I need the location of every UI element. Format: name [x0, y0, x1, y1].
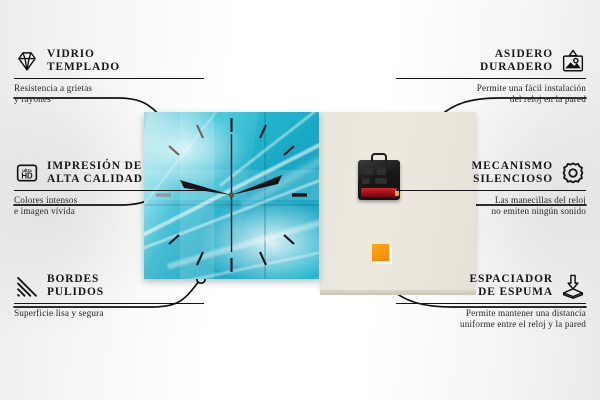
feature-title: MECANISMO SILENCIOSO	[471, 160, 553, 187]
feature-header: ESPACIADOR DE ESPUMA	[396, 273, 586, 300]
feature-title-line1: ASIDERO	[480, 48, 553, 61]
divider	[14, 190, 204, 192]
feature-subtitle-line2: y rayones	[14, 94, 204, 105]
feature-subtitle-line1: Las manecillas del reloj	[396, 195, 586, 206]
feature-title-line2: TEMPLADO	[47, 61, 120, 74]
feature-subtitle: Colores intensos e imagen vívida	[14, 195, 204, 218]
feature-subtitle-line2: e imagen vívida	[14, 206, 204, 217]
feature-title-line1: MECANISMO	[471, 160, 553, 173]
feature-subtitle: Superficie lisa y segura	[14, 308, 204, 319]
feature-title-line2: DE ESPUMA	[470, 286, 553, 299]
feature-title: ESPACIADOR DE ESPUMA	[470, 273, 553, 300]
movement-detail	[362, 167, 373, 175]
feature-title-line2: PULIDOS	[47, 286, 104, 299]
feature-impresion-alta-calidad: ultra HD IMPRESIÓN DE ALTA CALIDAD Color…	[14, 160, 204, 218]
movement-detail	[362, 178, 370, 184]
feature-header: MECANISMO SILENCIOSO	[396, 160, 586, 187]
movement-detail	[375, 178, 387, 184]
feature-title-line1: ESPACIADOR	[470, 273, 553, 286]
feature-espaciador-de-espuma: ESPACIADOR DE ESPUMA Permite mantener un…	[396, 273, 586, 331]
ultra-hd-icon: ultra HD	[14, 160, 40, 186]
feature-title: VIDRIO TEMPLADO	[47, 48, 120, 75]
foam-spacer-icon	[560, 273, 586, 299]
feature-subtitle-line1: Permite una fácil instalación	[396, 83, 586, 94]
foam-spacer-pad	[372, 244, 389, 261]
feature-subtitle: Resistencia a grietas y rayones	[14, 83, 204, 106]
feature-title-line1: IMPRESIÓN DE	[47, 160, 143, 173]
feature-subtitle-line1: Permite mantener una distancia	[396, 308, 586, 319]
feature-subtitle: Las manecillas del reloj no emiten ningú…	[396, 195, 586, 218]
infographic-stage: VIDRIO TEMPLADO Resistencia a grietas y …	[0, 0, 600, 400]
hanging-frame-icon	[560, 48, 586, 74]
battery	[361, 188, 397, 197]
feature-asidero-duradero: ASIDERO DURADERO Permite una fácil insta…	[396, 48, 586, 106]
divider	[396, 78, 586, 80]
hands-center-cap	[229, 192, 234, 197]
feature-subtitle-line1: Colores intensos	[14, 195, 204, 206]
feature-title: ASIDERO DURADERO	[480, 48, 553, 75]
feature-subtitle-line1: Resistencia a grietas	[14, 83, 204, 94]
feature-vidrio-templado: VIDRIO TEMPLADO Resistencia a grietas y …	[14, 48, 204, 106]
ultra-hd-icon-bottom-text: HD	[21, 172, 33, 181]
divider	[396, 303, 586, 305]
divider	[14, 303, 204, 305]
feature-subtitle-line2: uniforme entre el reloj y la pared	[396, 319, 586, 330]
movement-detail	[377, 167, 386, 175]
feature-title-line1: BORDES	[47, 273, 104, 286]
feature-header: ASIDERO DURADERO	[396, 48, 586, 75]
diagonal-lines-icon	[14, 273, 40, 299]
feature-header: VIDRIO TEMPLADO	[14, 48, 204, 75]
feature-header: ultra HD IMPRESIÓN DE ALTA CALIDAD	[14, 160, 204, 187]
feature-subtitle-line2: del reloj en la pared	[396, 94, 586, 105]
feature-mecanismo-silencioso: MECANISMO SILENCIOSO Las manecillas del …	[396, 160, 586, 218]
feature-subtitle: Permite mantener una distancia uniforme …	[396, 308, 586, 331]
feature-title-line2: SILENCIOSO	[471, 173, 553, 186]
feature-subtitle-line1: Superficie lisa y segura	[14, 308, 204, 319]
minute-hand	[232, 175, 283, 195]
feature-subtitle-line2: no emiten ningún sonido	[396, 206, 586, 217]
clock-movement-mechanism	[358, 160, 400, 200]
divider	[396, 190, 586, 192]
divider	[14, 78, 204, 80]
feature-subtitle: Permite una fácil instalación del reloj …	[396, 83, 586, 106]
gear-icon	[560, 160, 586, 186]
feature-title-line2: ALTA CALIDAD	[47, 173, 143, 186]
diamond-icon	[14, 48, 40, 74]
feature-title: IMPRESIÓN DE ALTA CALIDAD	[47, 160, 143, 187]
feature-title-line1: VIDRIO	[47, 48, 120, 61]
feature-title-line2: DURADERO	[480, 61, 553, 74]
feature-header: BORDES PULIDOS	[14, 273, 204, 300]
hanging-tab	[371, 153, 387, 162]
feature-bordes-pulidos: BORDES PULIDOS Superficie lisa y segura	[14, 273, 204, 319]
feature-title: BORDES PULIDOS	[47, 273, 104, 300]
